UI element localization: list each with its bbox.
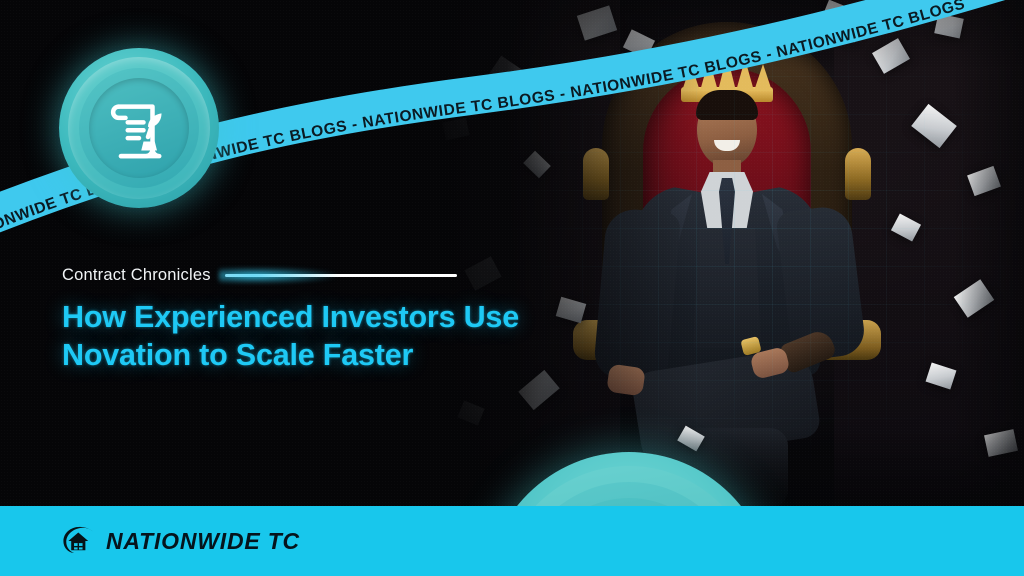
- eyebrow-divider: [225, 274, 457, 277]
- house-swoosh-logo-icon: [62, 526, 96, 556]
- headline-line-2: Novation to Scale Faster: [62, 337, 582, 375]
- headline-line-1: How Experienced Investors Use: [62, 300, 519, 334]
- footer-bar: NATIONWIDE TC: [0, 506, 1024, 576]
- eyebrow-label: Contract Chronicles: [62, 266, 211, 285]
- blog-banner: NATIONWIDE TC BLOGS - NATIONWIDE TC BLOG…: [0, 0, 1024, 576]
- eyebrow-row: Contract Chronicles: [62, 266, 582, 285]
- brand-name: NATIONWIDE TC: [106, 528, 300, 555]
- hero-photo: [430, 0, 1024, 512]
- photo-fade-mask: [430, 0, 1024, 512]
- page-title: How Experienced Investors Use Novation t…: [62, 299, 582, 375]
- headline-block: Contract Chronicles How Experienced Inve…: [62, 266, 582, 375]
- contract-badge: [59, 48, 219, 208]
- brand-logo[interactable]: NATIONWIDE TC: [62, 526, 300, 556]
- contract-scroll-quill-icon: [103, 92, 175, 164]
